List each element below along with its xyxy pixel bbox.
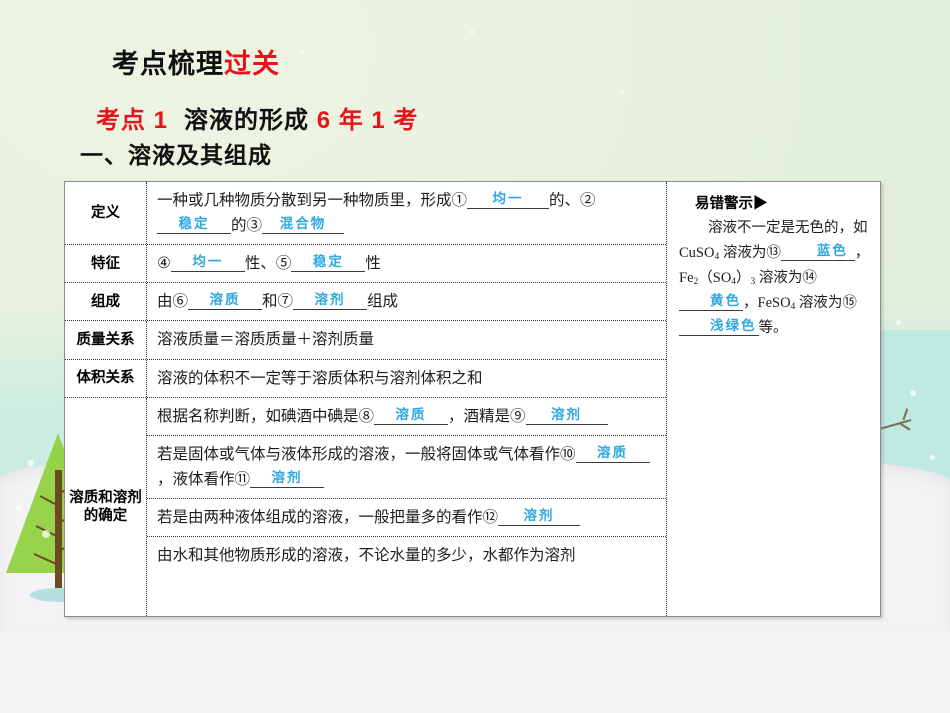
snowflake bbox=[896, 320, 901, 325]
table-row: 质量关系 溶液质量＝溶质质量＋溶剂质量 bbox=[65, 321, 666, 359]
tree-trunk bbox=[55, 470, 62, 595]
row-label-characteristics: 特征 bbox=[65, 245, 146, 282]
exam-point-frequency: 6 年 1 考 bbox=[317, 107, 419, 134]
table-row: 定义 一种或几种物质分散到另一种物质里，形成①均一的、②稳定的③混合物 bbox=[65, 182, 666, 245]
snowflake bbox=[28, 460, 34, 466]
determination-rule-3: 若是由两种液体组成的溶液，一般把量多的看作⑫溶剂 bbox=[147, 499, 666, 537]
formula-so: （SO bbox=[698, 270, 731, 286]
note-after-13: ， bbox=[855, 245, 870, 261]
content-panel: 定义 一种或几种物质分散到另一种物质里，形成①均一的、②稳定的③混合物 特征 ④… bbox=[64, 181, 881, 617]
warning-note-body: 溶液不一定是无色的，如CuSO4 溶液为⑬蓝色，Fe2（SO4）3 溶液为⑭黄色… bbox=[679, 216, 870, 341]
blank-13[interactable]: 蓝色 bbox=[781, 244, 855, 261]
blank-10[interactable]: 溶质 bbox=[576, 446, 650, 463]
comp-text-3: 组成 bbox=[367, 293, 398, 310]
blank-8[interactable]: 溶质 bbox=[374, 408, 448, 425]
row-label-definition: 定义 bbox=[65, 182, 146, 244]
page-title-red: 过关 bbox=[224, 49, 280, 79]
blank-14[interactable]: 黄色 bbox=[679, 294, 743, 311]
snowflake bbox=[42, 530, 50, 538]
warning-note: 易错警示▶ 溶液不一定是无色的，如CuSO4 溶液为⑬蓝色，Fe2（SO4）3 … bbox=[667, 182, 880, 616]
rule3-text-1: 若是由两种液体组成的溶液，一般把量多的看作⑫ bbox=[157, 509, 498, 526]
table-row: 特征 ④均一性、⑤稳定性 bbox=[65, 245, 666, 283]
rule1-text-2: ，酒精是⑨ bbox=[448, 408, 526, 425]
blank-2[interactable]: 稳定 bbox=[157, 217, 231, 234]
formula-cuso4: CuSO4 bbox=[679, 245, 719, 261]
blank-6[interactable]: 溶质 bbox=[188, 293, 262, 310]
formula-feso4: FeSO4 bbox=[758, 295, 796, 311]
blank-1[interactable]: 均一 bbox=[467, 192, 549, 209]
definition-text-3: 的③ bbox=[231, 217, 262, 234]
note-line-a: 溶液不一定是无色的，如 bbox=[708, 220, 868, 236]
formula-feso4-main: FeSO bbox=[758, 295, 791, 311]
snowflake bbox=[470, 30, 474, 34]
definition-text-1: 一种或几种物质分散到另一种物质里，形成① bbox=[157, 192, 467, 209]
definition-text-2: 的、② bbox=[549, 192, 596, 209]
rule2-text-2: ，液体看作⑪ bbox=[157, 471, 250, 488]
blank-7[interactable]: 溶剂 bbox=[293, 293, 367, 310]
determination-rule-1: 根据名称判断，如碘酒中碘是⑧溶质，酒精是⑨溶剂 bbox=[147, 398, 666, 436]
note-after-feso4: 溶液为⑮ bbox=[795, 295, 857, 311]
blank-4[interactable]: 均一 bbox=[171, 255, 245, 272]
row-content-volume-relation: 溶液的体积不一定等于溶质体积与溶剂体积之和 bbox=[146, 360, 666, 397]
table-row: 溶质和溶剂的确定 根据名称判断，如碘酒中碘是⑧溶质，酒精是⑨溶剂 若是固体或气体… bbox=[65, 398, 666, 616]
row-label-mass-relation: 质量关系 bbox=[65, 321, 146, 358]
rule1-text-1: 根据名称判断，如碘酒中碘是⑧ bbox=[157, 408, 374, 425]
snowflake bbox=[910, 390, 916, 396]
snowflake bbox=[930, 455, 935, 460]
table-row: 组成 由⑥溶质和⑦溶剂组成 bbox=[65, 283, 666, 321]
formula-fe: Fe bbox=[679, 270, 694, 286]
warning-note-title: 易错警示▶ bbox=[695, 192, 870, 213]
row-content-characteristics: ④均一性、⑤稳定性 bbox=[146, 245, 666, 282]
note-after-cuso4: 溶液为⑬ bbox=[719, 245, 781, 261]
page-title-black: 考点梳理 bbox=[112, 49, 224, 79]
note-after-14: ， bbox=[743, 295, 758, 311]
slide-canvas: 考点梳理过关 考点 1溶液的形成 6 年 1 考 一、溶液及其组成 定义 一种或… bbox=[0, 0, 950, 713]
char-text-1: ④ bbox=[157, 255, 171, 272]
row-content-mass-relation: 溶液质量＝溶质质量＋溶剂质量 bbox=[146, 321, 666, 358]
formula-fe2so43: Fe2（SO4）3 bbox=[679, 270, 755, 286]
knowledge-table: 定义 一种或几种物质分散到另一种物质里，形成①均一的、②稳定的③混合物 特征 ④… bbox=[65, 182, 666, 616]
snowflake bbox=[16, 505, 21, 510]
row-label-composition: 组成 bbox=[65, 283, 146, 320]
exam-point-topic: 溶液的形成 bbox=[184, 107, 309, 134]
blank-3[interactable]: 混合物 bbox=[262, 217, 344, 234]
page-title: 考点梳理过关 bbox=[112, 42, 280, 81]
table-row: 体积关系 溶液的体积不一定等于溶质体积与溶剂体积之和 bbox=[65, 360, 666, 398]
determination-rule-2: 若是固体或气体与液体形成的溶液，一般将固体或气体看作⑩溶质，液体看作⑪溶剂 bbox=[147, 436, 666, 499]
row-content-composition: 由⑥溶质和⑦溶剂组成 bbox=[146, 283, 666, 320]
determination-rule-4: 由水和其他物质形成的溶液，不论水量的多少，水都作为溶剂 bbox=[147, 537, 666, 616]
section-heading: 一、溶液及其组成 bbox=[80, 136, 272, 170]
exam-point-number: 考点 1 bbox=[96, 107, 168, 134]
row-content-determination: 根据名称判断，如碘酒中碘是⑧溶质，酒精是⑨溶剂 若是固体或气体与液体形成的溶液，… bbox=[146, 398, 666, 616]
blank-9[interactable]: 溶剂 bbox=[526, 408, 608, 425]
snowflake bbox=[300, 50, 304, 54]
comp-text-1: 由⑥ bbox=[157, 293, 188, 310]
snowflake bbox=[620, 90, 624, 94]
blank-12[interactable]: 溶剂 bbox=[498, 509, 580, 526]
rule2-text-1: 若是固体或气体与液体形成的溶液，一般将固体或气体看作⑩ bbox=[157, 446, 576, 463]
note-after-fe: 溶液为⑭ bbox=[755, 270, 817, 286]
formula-paren: ） bbox=[736, 270, 751, 286]
row-label-volume-relation: 体积关系 bbox=[65, 360, 146, 397]
char-text-3: 性 bbox=[365, 255, 381, 272]
blank-15[interactable]: 浅绿色 bbox=[679, 319, 759, 336]
blank-11[interactable]: 溶剂 bbox=[250, 471, 324, 488]
exam-point-heading: 考点 1溶液的形成 6 年 1 考 bbox=[96, 100, 418, 135]
formula-cuso4-main: CuSO bbox=[679, 245, 714, 261]
row-content-definition: 一种或几种物质分散到另一种物质里，形成①均一的、②稳定的③混合物 bbox=[146, 182, 666, 244]
comp-text-2: 和⑦ bbox=[262, 293, 293, 310]
background-bottom-strip bbox=[0, 631, 950, 713]
row-label-determination: 溶质和溶剂的确定 bbox=[65, 398, 146, 616]
blank-5[interactable]: 稳定 bbox=[291, 255, 365, 272]
char-text-2: 性、⑤ bbox=[245, 255, 292, 272]
note-tail: 等。 bbox=[759, 320, 788, 336]
